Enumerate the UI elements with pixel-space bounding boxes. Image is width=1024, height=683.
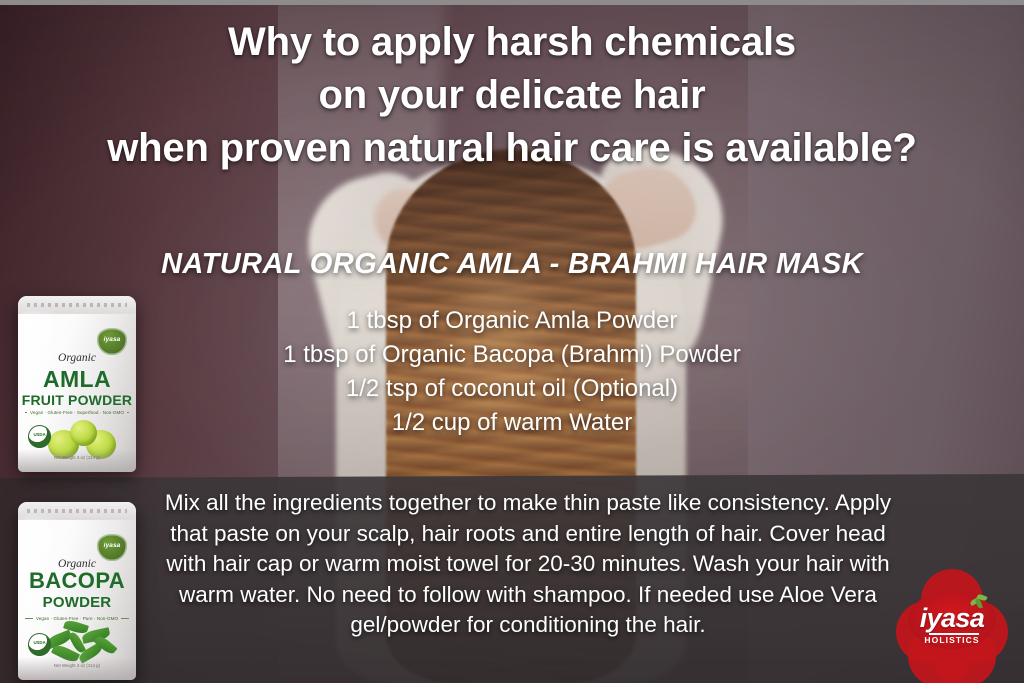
usda-organic-seal-icon: USDA <box>28 425 51 448</box>
product-pouch-amla[interactable]: iyasa Organic AMLA FRUIT POWDER Vegan · … <box>18 296 136 472</box>
product-pouch-bacopa[interactable]: iyasa Organic BACOPA POWDER Vegan · Glut… <box>18 502 136 680</box>
product-net-weight: Net Weight 4 oz (114 g) <box>18 663 136 668</box>
headline-line-1: Why to apply harsh chemicals <box>0 16 1024 69</box>
product-subtitle: FRUIT POWDER <box>18 392 136 408</box>
ingredient-item: 1/2 cup of warm Water <box>0 406 1024 440</box>
infographic-poster: Why to apply harsh chemicals on your del… <box>0 0 1024 683</box>
usda-organic-seal-icon: USDA <box>28 633 51 656</box>
tagline-rule-right <box>127 412 129 413</box>
badge-label: iyasa <box>97 336 127 343</box>
top-edge-strip <box>0 0 1024 5</box>
product-tagline-row: Vegan · Gluten-Free · Superfood · Non-GM… <box>25 410 129 415</box>
ingredient-item: 1 tbsp of Organic Amla Powder <box>0 304 1024 338</box>
ingredient-item: 1/2 tsp of coconut oil (Optional) <box>0 372 1024 406</box>
usda-seal-label: USDA <box>28 432 51 437</box>
brand-wordmark: iyasa <box>896 603 1008 634</box>
product-subtitle: POWDER <box>18 594 136 611</box>
iyasa-badge-icon: iyasa <box>97 534 127 561</box>
pouch-zip-top <box>18 296 136 314</box>
headline-line-3: when proven natural hair care is availab… <box>0 122 1024 175</box>
brand-tagline: HOLISTICS <box>896 635 1008 645</box>
instructions-paragraph: Mix all the ingredients together to make… <box>156 488 900 641</box>
brand-logo[interactable]: iyasa HOLISTICS <box>896 569 1008 673</box>
pouch-zip-top <box>18 502 136 520</box>
usda-seal-label: USDA <box>28 640 51 645</box>
product-organic-label: Organic <box>18 352 136 364</box>
ingredients-list: 1 tbsp of Organic Amla Powder 1 tbsp of … <box>0 304 1024 440</box>
amla-berry <box>70 420 97 446</box>
product-net-weight: Net Weight 4 oz (114 g) <box>18 455 136 460</box>
product-name: AMLA <box>18 366 136 393</box>
product-tagline: Vegan · Gluten-Free · Superfood · Non-GM… <box>30 410 124 415</box>
tagline-rule-left <box>25 412 27 413</box>
tagline-rule-left <box>25 618 33 619</box>
badge-label: iyasa <box>97 542 127 549</box>
headline-line-2: on your delicate hair <box>0 69 1024 122</box>
page-title: Why to apply harsh chemicals on your del… <box>0 16 1024 176</box>
recipe-subheading: NATURAL ORGANIC AMLA - BRAHMI HAIR MASK <box>0 248 1024 281</box>
ingredient-item: 1 tbsp of Organic Bacopa (Brahmi) Powder <box>0 338 1024 372</box>
iyasa-badge-icon: iyasa <box>97 328 127 355</box>
product-name: BACOPA <box>18 568 136 594</box>
